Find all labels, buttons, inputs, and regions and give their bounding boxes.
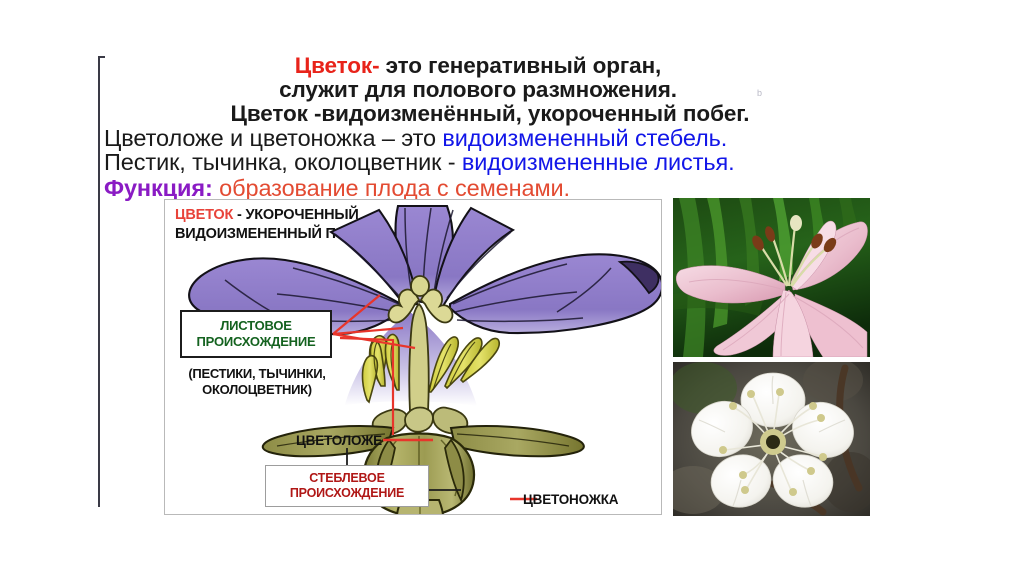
slide-left-rule [98,56,100,507]
stem-origin-line-2: ПРОИСХОЖДЕНИЕ [290,486,404,501]
white-cherry-blossom-photo-art [673,362,870,516]
stem-origin-callout-box: СТЕБЛЕВОЕ ПРОИСХОЖДЕНИЕ [265,465,429,507]
receptacle-label: ЦВЕТОЛОЖЕ [296,433,382,448]
leaf-origin-subtitle: (ПЕСТИКИ, ТЫЧИНКИ, ОКОЛОЦВЕТНИК) [169,366,345,397]
headline-line-5-blue: видоизмененные листья. [462,149,735,175]
white-cherry-blossom-photo [673,362,870,516]
pedicel-label: ЦВЕТОНОЖКА [523,492,618,507]
leaf-origin-line-1: ЛИСТОВОЕ [220,318,292,334]
leaf-origin-line-2: ПРОИСХОЖДЕНИЕ [197,334,316,350]
headline-line-1-red: Цветок- [295,53,380,78]
flower-anatomy-diagram: ЦВЕТОК - УКОРОЧЕННЫЙ ВИДОИЗМЕНЕННЫЙ ПОБЕ… [164,199,662,515]
headline-text-block: Цветок- это генеративный орган, служит д… [104,54,894,201]
stray-artifact-mark: b [757,88,762,98]
headline-line-5-black: Пестик, тычинка, околоцветник - [104,149,462,175]
leaf-origin-callout-box: ЛИСТОВОЕ ПРОИСХОЖДЕНИЕ [180,310,332,358]
pink-lily-photo [673,198,870,357]
stem-origin-line-1: СТЕБЛЕВОЕ [309,471,384,486]
pink-lily-photo-art [673,198,870,357]
headline-line-1: Цветок- это генеративный орган, [104,54,894,78]
slide-canvas: Цветок- это генеративный орган, служит д… [0,0,1024,574]
headline-line-2: служит для полового размножения. [104,78,894,102]
headline-line-4-blue: видоизмененный стебель. [442,125,727,151]
headline-line-3: Цветок -видоизменённый, укороченный побе… [104,102,894,126]
headline-line-4-black: Цветоложе и цветоножка – это [104,125,442,151]
headline-line-5: Пестик, тычинка, околоцветник - видоизме… [104,150,894,175]
leaf-origin-sub-line-2: ОКОЛОЦВЕТНИК) [202,382,312,397]
headline-line-1-rest: это генеративный орган, [379,53,661,78]
headline-line-6-violet: Функция: [104,175,213,201]
leaf-origin-sub-line-1: (ПЕСТИКИ, ТЫЧИНКИ, [188,366,325,381]
headline-line-4: Цветоложе и цветоножка – это видоизменен… [104,126,894,151]
headline-line-6-red: образование плода с семенами. [213,175,570,201]
